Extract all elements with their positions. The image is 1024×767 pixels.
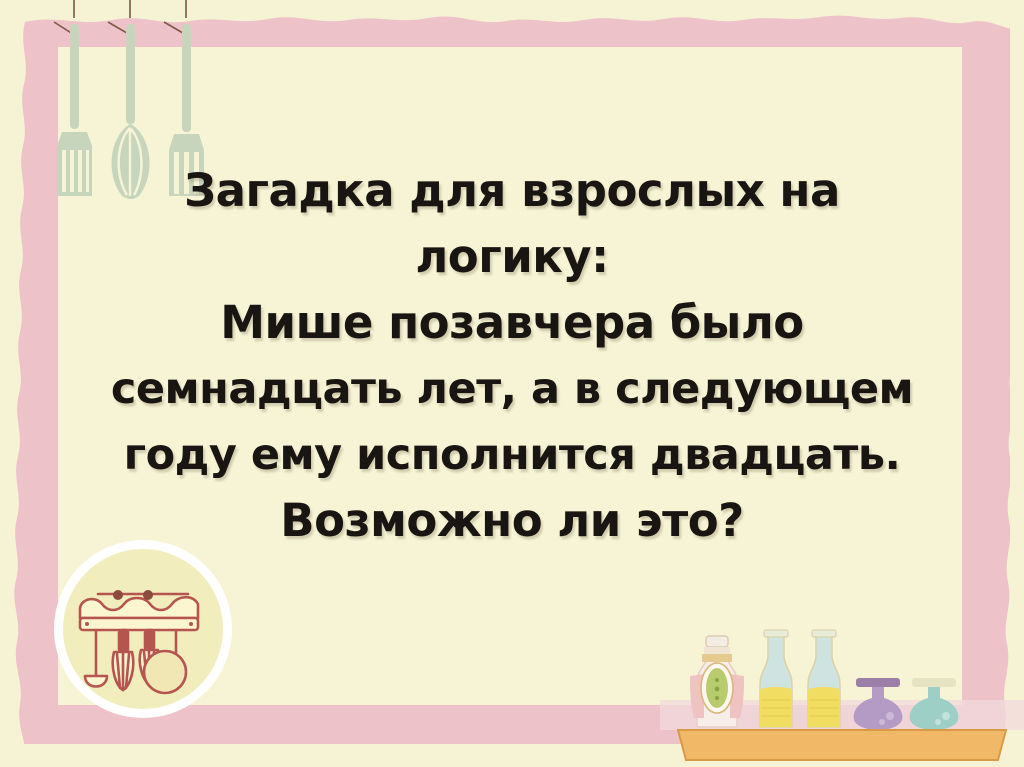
shelf-board xyxy=(678,730,1006,760)
utensil-rack-badge xyxy=(52,538,234,720)
riddle-line: логику: xyxy=(40,224,984,290)
riddle-line: семнадцать лет, а в следующем xyxy=(40,356,984,422)
poster-card: Загадка для взрослых на логику: Мише поз… xyxy=(0,0,1024,767)
shelf-item-oil-bottle-right xyxy=(808,630,840,727)
shelf-item-oil-bottle-left xyxy=(760,630,792,727)
kitchen-shelf-illustration xyxy=(660,612,1024,767)
shelf-item-labeled-jar xyxy=(690,636,744,727)
riddle-line: Мише позавчера было xyxy=(40,290,984,356)
riddle-line: Загадка для взрослых на xyxy=(40,158,984,224)
riddle-line: Возможно ли это? xyxy=(40,488,984,554)
shelf-item-round-flask-purple xyxy=(854,678,903,730)
riddle-line: году ему исполнится двадцать. xyxy=(40,422,984,488)
shelf-item-round-flask-teal xyxy=(910,678,959,730)
riddle-text: Загадка для взрослых на логику: Мише поз… xyxy=(40,158,984,554)
